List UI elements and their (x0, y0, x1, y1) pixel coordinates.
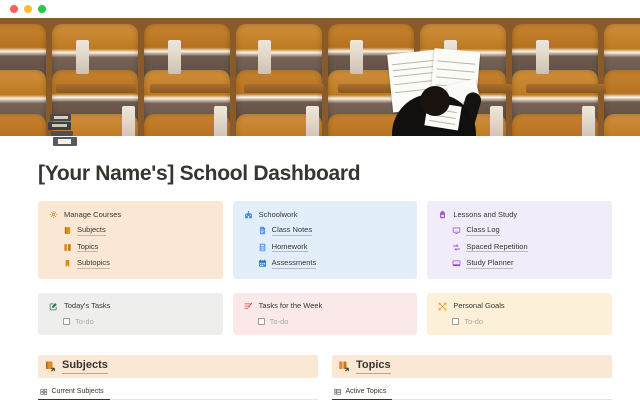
card-header: Today's Tasks (49, 302, 212, 311)
link-spaced-repetition[interactable]: Spaced Repetition (452, 243, 601, 253)
card-title: Tasks for the Week (259, 302, 323, 310)
todo-checkbox[interactable] (452, 318, 459, 325)
link-label: Topics (77, 243, 98, 253)
link-label: Class Notes (272, 226, 312, 236)
closed-book-link-icon (44, 360, 56, 372)
gallery-view-icon (40, 388, 48, 396)
link-study-planner[interactable]: Study Planner (452, 259, 601, 269)
link-subjects[interactable]: Subjects (63, 226, 212, 236)
card-header: Tasks for the Week (244, 302, 407, 311)
card-personal-goals[interactable]: Personal Goals To-do (427, 293, 612, 336)
todo-item[interactable]: To-do (63, 318, 212, 326)
link-label: Subjects (77, 226, 106, 236)
open-books-icon (63, 243, 72, 252)
card-tasks-for-the-week[interactable]: Tasks for the Week To-do (233, 293, 418, 336)
window-minimize-button[interactable] (24, 5, 32, 13)
database-view-tabs: Current Subjects (38, 385, 318, 400)
card-manage-courses[interactable]: Manage Courses Subjects Topics (38, 201, 223, 279)
school-building-icon (244, 210, 253, 219)
calendar-icon (258, 259, 267, 268)
backpack-icon (438, 210, 447, 219)
window-titlebar (0, 0, 640, 18)
database-title: Subjects (62, 359, 108, 374)
todo-label: To-do (464, 318, 483, 326)
card-header: Lessons and Study (438, 210, 601, 219)
link-class-notes[interactable]: Class Notes (258, 226, 407, 236)
calculator-icon (258, 243, 267, 252)
open-books-link-icon (338, 360, 350, 372)
card-header: Personal Goals (438, 302, 601, 311)
todo-label: To-do (270, 318, 289, 326)
task-cards-row: Today's Tasks To-do Tasks for the Week T… (38, 293, 612, 336)
todo-item[interactable]: To-do (452, 318, 601, 326)
closed-book-icon (63, 226, 72, 235)
link-topics[interactable]: Topics (63, 243, 212, 253)
bookmark-icon (63, 259, 72, 268)
todo-label: To-do (75, 318, 94, 326)
notion-dashboard-window: [Your Name's] School Dashboard Manage Co… (0, 0, 640, 400)
auditorium-photo (0, 18, 640, 136)
database-header[interactable]: Topics (332, 355, 612, 378)
database-topics: Topics Active Topics (332, 355, 612, 400)
link-label: Subtopics (77, 259, 110, 269)
todo-item[interactable]: To-do (258, 318, 407, 326)
gear-icon (49, 210, 58, 219)
linked-databases-row: Subjects Current Subjects Top (38, 355, 612, 400)
card-lessons-and-study[interactable]: Lessons and Study Class Log Spaced Repet… (427, 201, 612, 279)
checklist-pencil-icon (244, 302, 253, 311)
card-title: Schoolwork (259, 211, 298, 219)
card-schoolwork[interactable]: Schoolwork Class Notes Homework (233, 201, 418, 279)
link-subtopics[interactable]: Subtopics (63, 259, 212, 269)
window-close-button[interactable] (10, 5, 18, 13)
tab-active-topics[interactable]: Active Topics (332, 385, 392, 400)
link-label: Study Planner (466, 259, 513, 269)
card-title: Today's Tasks (64, 302, 110, 310)
link-label: Assessments (272, 259, 317, 269)
seat-row-front (0, 114, 640, 136)
stacked-books-icon[interactable] (47, 114, 75, 144)
desktop-computer-icon (452, 259, 461, 268)
crossed-darts-icon (438, 302, 447, 311)
tab-current-subjects[interactable]: Current Subjects (38, 385, 110, 400)
card-header: Schoolwork (244, 210, 407, 219)
tab-label: Active Topics (346, 388, 387, 395)
link-label: Class Log (466, 226, 499, 236)
monitor-icon (452, 226, 461, 235)
page-title[interactable]: [Your Name's] School Dashboard (38, 162, 640, 186)
window-maximize-button[interactable] (38, 5, 46, 13)
todo-checkbox[interactable] (63, 318, 70, 325)
link-label: Spaced Repetition (466, 243, 527, 253)
todo-checkbox[interactable] (258, 318, 265, 325)
link-homework[interactable]: Homework (258, 243, 407, 253)
card-title: Personal Goals (453, 302, 504, 310)
card-todays-tasks[interactable]: Today's Tasks To-do (38, 293, 223, 336)
cover-image[interactable] (0, 18, 640, 136)
repeat-arrows-icon (452, 243, 461, 252)
tab-label: Current Subjects (52, 388, 104, 395)
card-title: Lessons and Study (453, 211, 517, 219)
card-title: Manage Courses (64, 211, 121, 219)
table-view-icon (334, 388, 342, 396)
note-page-icon (258, 226, 267, 235)
navigation-cards-row: Manage Courses Subjects Topics (38, 201, 612, 279)
database-title: Topics (356, 359, 391, 374)
student-figure (378, 52, 488, 136)
link-assessments[interactable]: Assessments (258, 259, 407, 269)
database-subjects: Subjects Current Subjects (38, 355, 318, 400)
pencil-square-icon (49, 302, 58, 311)
link-class-log[interactable]: Class Log (452, 226, 601, 236)
link-label: Homework (272, 243, 308, 253)
card-header: Manage Courses (49, 210, 212, 219)
database-header[interactable]: Subjects (38, 355, 318, 378)
page-content: [Your Name's] School Dashboard Manage Co… (0, 136, 640, 400)
database-view-tabs: Active Topics (332, 385, 612, 400)
